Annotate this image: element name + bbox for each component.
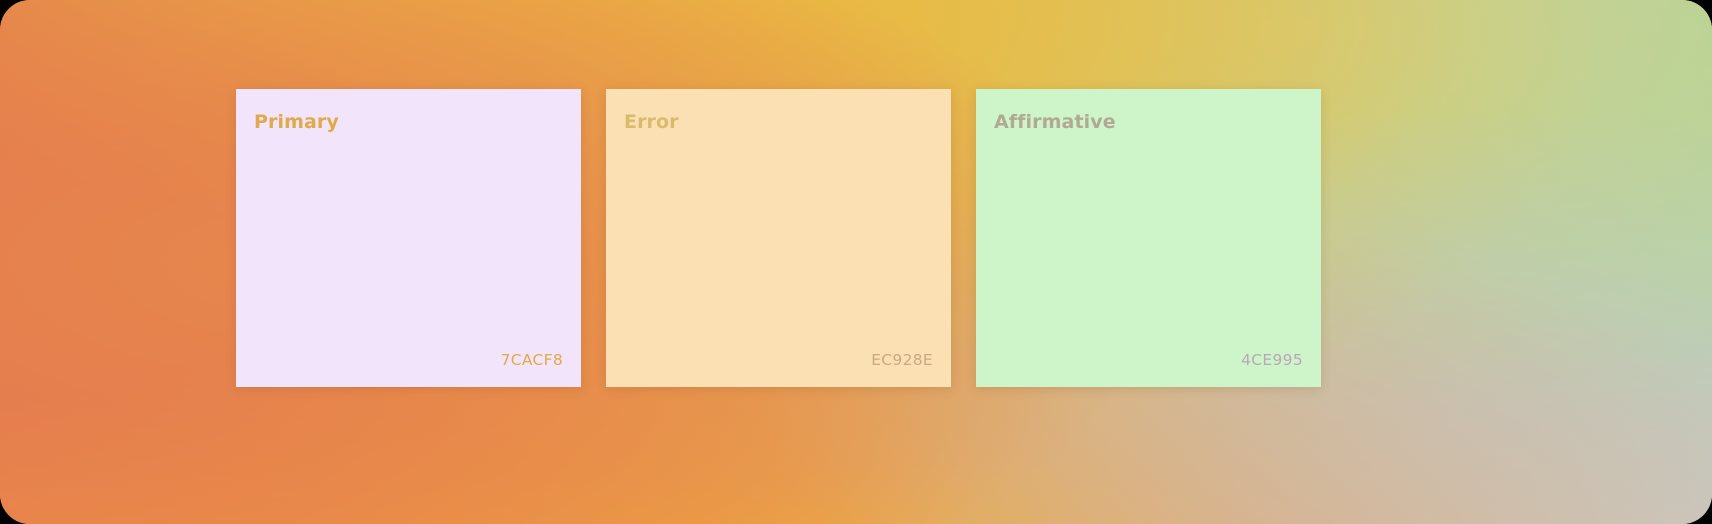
swatch-hex-value: 7CACF8 <box>236 351 563 369</box>
swatch-hex-value: 4CE995 <box>976 351 1303 369</box>
color-swatch-error[interactable]: Error EC928E <box>606 89 951 387</box>
color-swatch-primary[interactable]: Primary 7CACF8 <box>236 89 581 387</box>
color-swatch-affirmative[interactable]: Affirmative 4CE995 <box>976 89 1321 387</box>
swatch-title: Error <box>624 111 951 133</box>
color-palette-canvas: Primary 7CACF8 Error EC928E Affirmative … <box>0 0 1712 524</box>
color-swatch-row: Primary 7CACF8 Error EC928E Affirmative … <box>236 89 1321 387</box>
swatch-hex-value: EC928E <box>606 351 933 369</box>
swatch-title: Affirmative <box>994 111 1321 133</box>
swatch-title: Primary <box>254 111 581 133</box>
